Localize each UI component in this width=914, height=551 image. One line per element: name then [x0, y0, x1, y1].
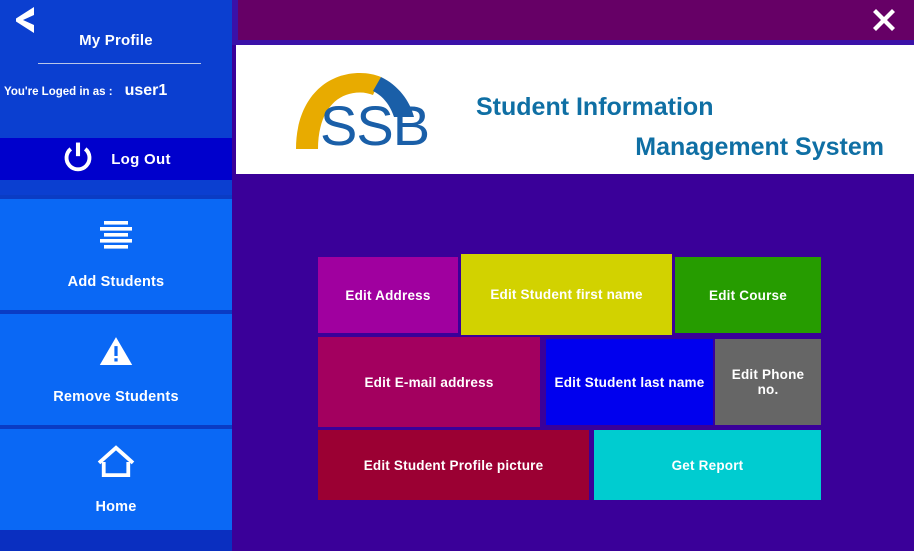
- sidebar-item-label: Add Students: [68, 274, 165, 290]
- tile-edit-address[interactable]: Edit Address: [318, 257, 458, 333]
- tile-get-report[interactable]: Get Report: [594, 430, 821, 500]
- tile-label: Get Report: [672, 458, 744, 473]
- tile-label: Edit E-mail address: [364, 375, 493, 390]
- sidebar-item-label: Remove Students: [53, 389, 178, 405]
- profile-title: My Profile: [0, 32, 232, 49]
- app-window: My Profile You're Loged in as : user1 Lo…: [0, 0, 914, 551]
- app-header: SSB Student Information Management Syste…: [236, 45, 914, 174]
- ssb-logo: SSB: [290, 67, 438, 152]
- warning-triangle-icon: [98, 335, 134, 373]
- close-button[interactable]: [868, 4, 900, 36]
- home-icon: [95, 444, 137, 483]
- tile-edit-student-first-name[interactable]: Edit Student first name: [461, 254, 672, 335]
- profile-divider: [38, 63, 201, 64]
- power-icon: [61, 140, 95, 179]
- sidebar-item-label: Home: [95, 499, 136, 515]
- tile-edit-course[interactable]: Edit Course: [675, 257, 821, 333]
- tile-label: Edit Address: [345, 288, 430, 303]
- sidebar-item-home[interactable]: Home: [0, 425, 232, 530]
- login-status: You're Loged in as : user1: [0, 82, 232, 104]
- tile-label: Edit Student last name: [555, 375, 705, 390]
- page-title-line-1: Student Information: [476, 87, 896, 127]
- svg-text:SSB: SSB: [320, 94, 429, 152]
- tile-label: Edit Student first name: [490, 287, 642, 302]
- sidebar: My Profile You're Loged in as : user1 Lo…: [0, 0, 232, 551]
- login-label: You're Loged in as :: [4, 86, 113, 98]
- tile-label: Edit Course: [709, 288, 787, 303]
- sidebar-item-add-students[interactable]: Add Students: [0, 195, 232, 310]
- sidebar-item-label: Log Out: [111, 151, 171, 168]
- page-title-line-2: Management System: [476, 127, 896, 167]
- title-bar-surface: [238, 0, 914, 40]
- tile-edit-student-last-name[interactable]: Edit Student last name: [546, 339, 713, 425]
- tile-edit-e-mail-address[interactable]: Edit E-mail address: [318, 337, 540, 427]
- tile-edit-phone-no[interactable]: Edit Phone no.: [715, 339, 821, 425]
- tile-label: Edit Phone no.: [721, 367, 815, 397]
- stacked-lines-icon: [96, 219, 136, 258]
- close-icon: [868, 4, 900, 36]
- tile-label: Edit Student Profile picture: [364, 458, 544, 473]
- sidebar-item-remove-students[interactable]: Remove Students: [0, 310, 232, 425]
- sidebar-footer: [0, 530, 232, 551]
- tile-edit-student-profile-picture[interactable]: Edit Student Profile picture: [318, 430, 589, 500]
- page-title: Student Information Management System: [476, 87, 896, 167]
- login-username: user1: [125, 82, 168, 100]
- sidebar-item-logout[interactable]: Log Out: [0, 138, 232, 180]
- title-bar: [232, 0, 914, 45]
